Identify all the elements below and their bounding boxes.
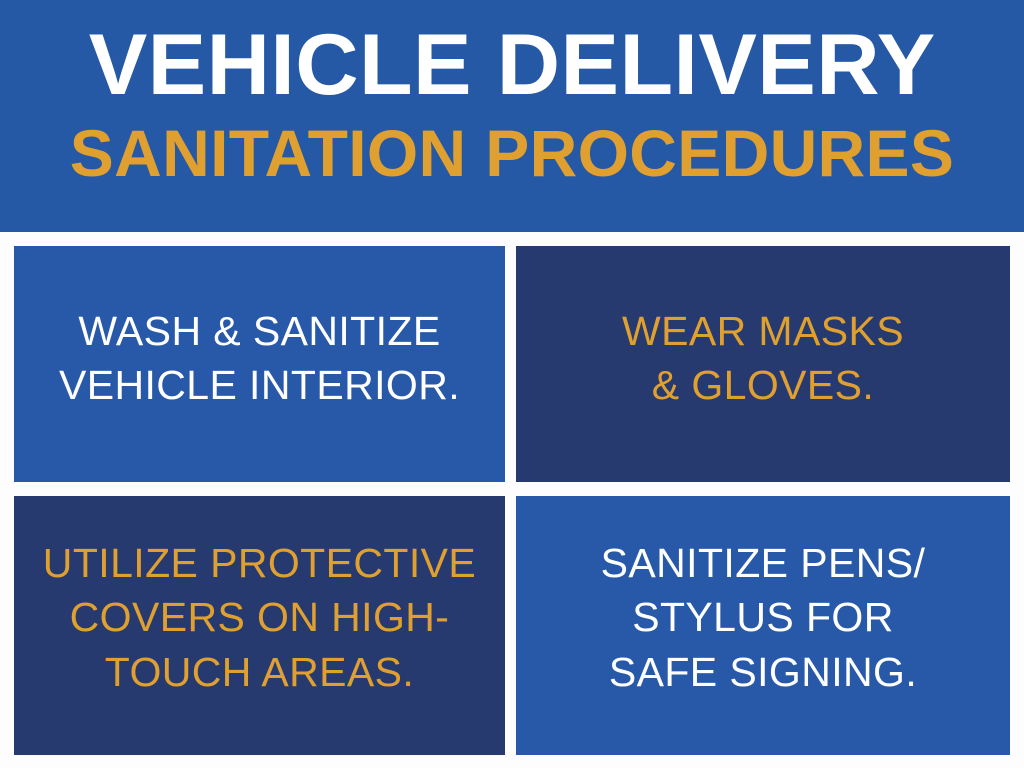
poster-title-line-1: VEHICLE DELIVERY — [88, 22, 935, 108]
poster-subtitle-line-2: SANITATION PROCEDURES — [70, 120, 955, 186]
procedure-panel-text: UTILIZE PROTECTIVE COVERS ON HIGH- TOUCH… — [29, 536, 490, 698]
procedure-panel-text: WASH & SANITIZE VEHICLE INTERIOR. — [45, 304, 474, 412]
procedure-panel-wear-masks-gloves: WEAR MASKS & GLOVES. — [516, 246, 1010, 482]
procedure-panel-text: WEAR MASKS & GLOVES. — [608, 304, 918, 412]
procedure-panel-text: SANITIZE PENS/ STYLUS FOR SAFE SIGNING. — [587, 536, 940, 698]
procedure-panel-protective-covers: UTILIZE PROTECTIVE COVERS ON HIGH- TOUCH… — [14, 496, 505, 755]
procedure-panel-grid: WASH & SANITIZE VEHICLE INTERIOR. WEAR M… — [14, 246, 1010, 755]
poster-header: VEHICLE DELIVERY SANITATION PROCEDURES — [0, 0, 1024, 232]
poster-root: VEHICLE DELIVERY SANITATION PROCEDURES W… — [0, 0, 1024, 768]
procedure-panel-wash-sanitize-interior: WASH & SANITIZE VEHICLE INTERIOR. — [14, 246, 505, 482]
procedure-panel-sanitize-pens-stylus: SANITIZE PENS/ STYLUS FOR SAFE SIGNING. — [516, 496, 1010, 755]
